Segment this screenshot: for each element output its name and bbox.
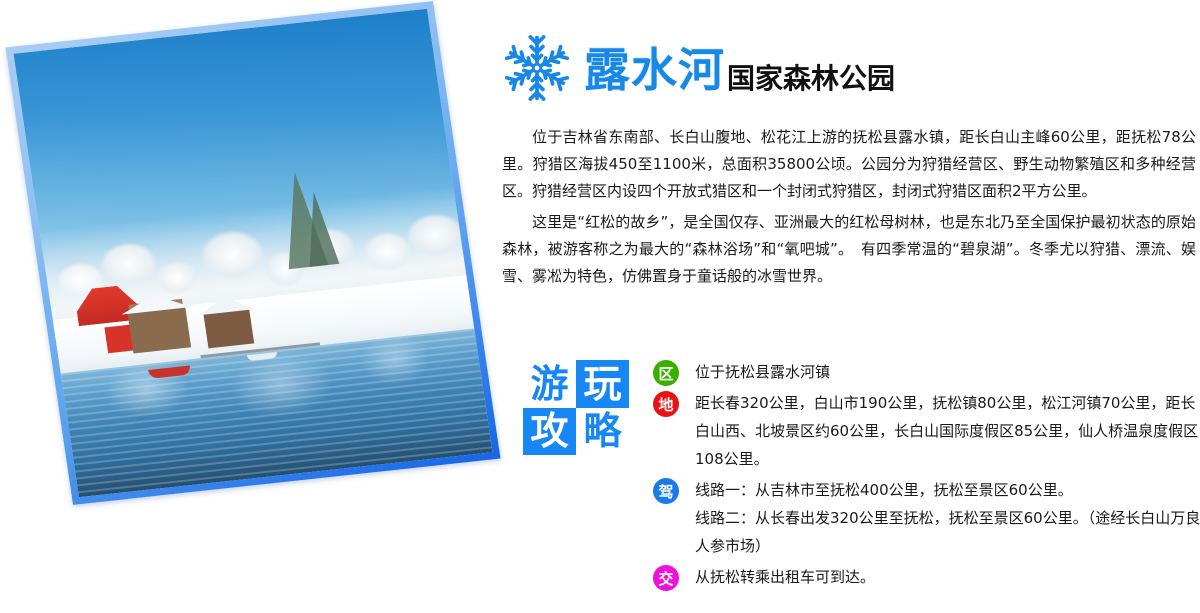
transport-badge: 交	[653, 565, 679, 591]
location-badge: 地	[653, 391, 679, 417]
photo-cabin-right	[203, 308, 254, 349]
content-panel: 露水河 国家森林公园 位于吉林省东南部、长白山腹地、松花江上游的抚松县露水镇，距…	[500, 0, 1200, 613]
guide-badge-cell-gong: 攻	[523, 408, 576, 456]
page-subtitle: 国家森林公园	[727, 65, 895, 93]
district-line-1: 位于抚松县露水河镇	[695, 358, 1200, 386]
photo-frame	[5, 1, 500, 505]
list-item: 区 位于抚松县露水河镇	[653, 358, 1200, 386]
brand-header: 露水河 国家森林公园	[500, 30, 895, 106]
photo-panel	[0, 0, 520, 613]
guide-badge-cell-you: 游	[523, 360, 576, 408]
intro-block: 位于吉林省东南部、长白山腹地、松花江上游的抚松县露水镇，距长白山主峰60公里，距…	[502, 124, 1196, 294]
snowflake-icon	[500, 31, 574, 105]
list-item: 地 距长春320公里，白山市190公里，抚松镇80公里，松江河镇70公里，距长白…	[653, 389, 1200, 473]
district-text: 位于抚松县露水河镇	[695, 358, 1200, 386]
location-line-1: 距长春320公里，白山市190公里，抚松镇80公里，松江河镇70公里，距长白山西…	[695, 389, 1200, 473]
info-list: 区 位于抚松县露水河镇 地 距长春320公里，白山市190公里，抚松镇80公里，…	[653, 358, 1200, 594]
location-text: 距长春320公里，白山市190公里，抚松镇80公里，松江河镇70公里，距长白山西…	[695, 389, 1200, 473]
guide-badge-cell-lue: 略	[576, 408, 629, 456]
list-item: 驾 线路一：从吉林市至抚松400公里，抚松至景区60公里。 线路二：从长春出发3…	[653, 476, 1200, 560]
transport-text: 从抚松转乘出租车可到达。	[695, 563, 1200, 591]
driving-text: 线路一：从吉林市至抚松400公里，抚松至景区60公里。 线路二：从长春出发320…	[695, 476, 1200, 560]
driving-line-1: 线路一：从吉林市至抚松400公里，抚松至景区60公里。	[695, 476, 1200, 504]
guide-badge: 游 玩 攻 略	[523, 360, 629, 455]
guide-badge-cell-wan: 玩	[576, 360, 629, 408]
photo-cabin-left	[127, 305, 191, 353]
list-item: 交 从抚松转乘出租车可到达。	[653, 563, 1200, 591]
page-title: 露水河	[584, 47, 725, 93]
driving-line-2: 线路二：从长春出发320公里至抚松，抚松至景区60公里。（途经长白山万良人参市场…	[695, 504, 1200, 560]
district-badge: 区	[653, 360, 679, 386]
winter-scenic-photo	[13, 9, 492, 497]
intro-paragraph-1: 位于吉林省东南部、长白山腹地、松花江上游的抚松县露水镇，距长白山主峰60公里，距…	[502, 124, 1196, 205]
driving-badge: 驾	[653, 478, 679, 504]
intro-paragraph-2: 这里是“红松的故乡”，是全国仅存、亚洲最大的红松母树林，也是东北乃至全国保护最初…	[502, 209, 1196, 290]
transport-line-1: 从抚松转乘出租车可到达。	[695, 563, 1200, 591]
